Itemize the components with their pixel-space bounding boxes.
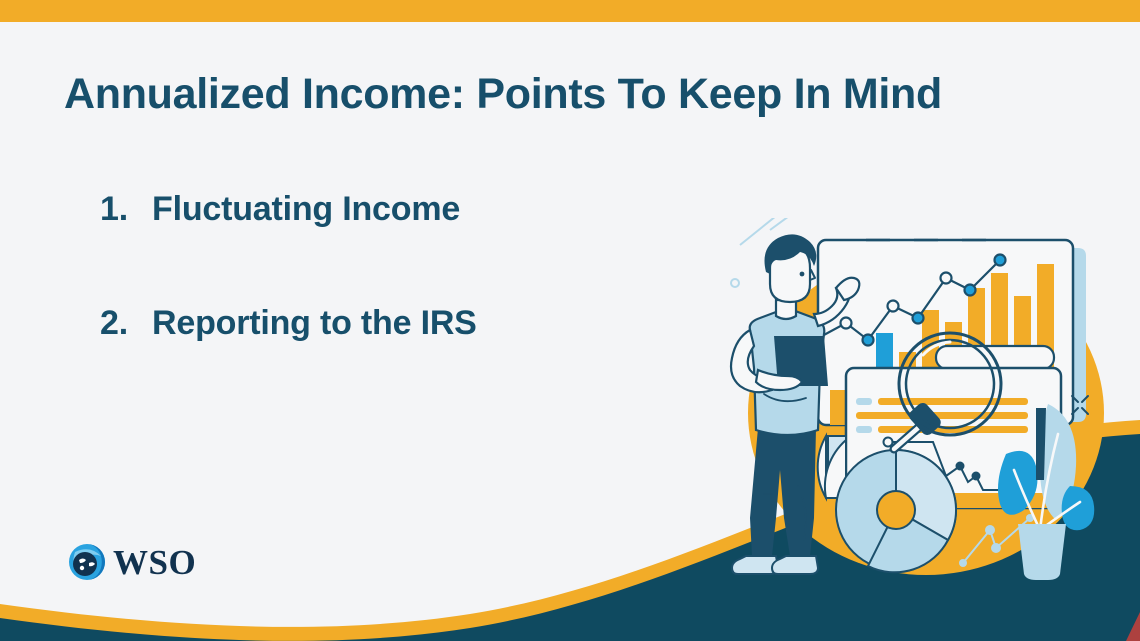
data-analysis-illustration bbox=[718, 218, 1140, 590]
person-shoes bbox=[732, 556, 818, 574]
list-item-label: Fluctuating Income bbox=[152, 190, 460, 229]
person-legs bbox=[750, 428, 816, 556]
line-end-dot bbox=[972, 472, 981, 481]
wso-globe-icon bbox=[68, 543, 106, 581]
wso-logo-text: WSO bbox=[113, 545, 196, 580]
list-item-label: Reporting to the IRS bbox=[152, 304, 477, 343]
donut-chart bbox=[836, 450, 956, 572]
coin-icon: $ bbox=[1107, 612, 1140, 641]
plant-leaf-blue-right bbox=[1062, 486, 1095, 530]
list-item: 2. Reporting to the IRS bbox=[100, 304, 477, 374]
list-item: 1. Fluctuating Income bbox=[100, 190, 477, 260]
list-item-number: 2. bbox=[100, 304, 152, 343]
wso-logo: WSO bbox=[68, 543, 196, 581]
person-eye bbox=[800, 272, 805, 277]
svg-text:$: $ bbox=[1120, 619, 1135, 641]
wave-red-sliver bbox=[1126, 612, 1140, 641]
slide-canvas: $ $ $ $ bbox=[0, 0, 1140, 641]
list-item-number: 1. bbox=[100, 190, 152, 229]
top-accent-bar bbox=[0, 0, 1140, 22]
line-start-dot bbox=[884, 438, 893, 447]
page-title: Annualized Income: Points To Keep In Min… bbox=[64, 66, 1094, 122]
points-list: 1. Fluctuating Income 2. Reporting to th… bbox=[100, 190, 477, 374]
line-mid-dot bbox=[956, 462, 965, 471]
coin-icon: $ bbox=[1000, 592, 1062, 641]
svg-text:$: $ bbox=[1020, 602, 1042, 641]
plant-pot bbox=[1018, 524, 1066, 580]
